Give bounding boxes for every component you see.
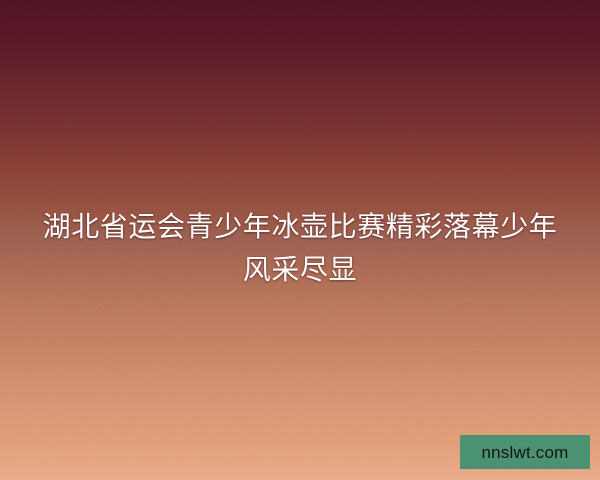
watermark-badge: nnslwt.com [460,435,590,469]
watermark-label: nnslwt.com [481,444,568,461]
cover-image-canvas: 湖北省运会青少年冰壶比赛精彩落幕少年 风采尽显 nnslwt.com [0,0,600,480]
page-title: 湖北省运会青少年冰壶比赛精彩落幕少年 风采尽显 [0,205,600,291]
